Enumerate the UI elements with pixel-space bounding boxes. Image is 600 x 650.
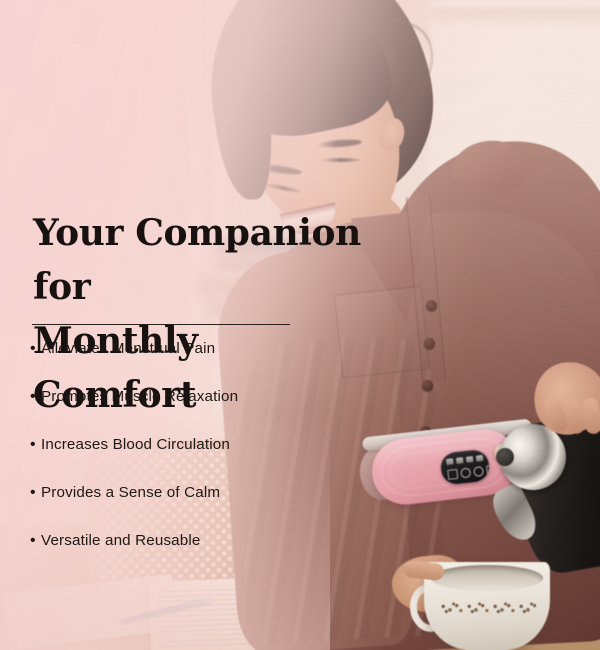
bullet-icon: • [30, 485, 41, 501]
benefit-label: Versatile and Reusable [41, 532, 370, 549]
bullet-icon: • [30, 533, 41, 549]
benefit-label: Promotes Muscle Relaxation [41, 388, 370, 405]
divider-rule [32, 324, 290, 325]
benefits-list: • Alleviates Menstrual Pain • Promotes M… [30, 340, 370, 580]
benefit-item: • Promotes Muscle Relaxation [30, 388, 370, 436]
benefit-item: • Increases Blood Circulation [30, 436, 370, 484]
benefit-item: • Versatile and Reusable [30, 532, 370, 580]
product-benefits-banner: Your Companion for Monthly Comfort • All… [0, 0, 600, 650]
bullet-icon: • [30, 437, 41, 453]
benefit-label: Increases Blood Circulation [41, 436, 370, 453]
benefit-item: • Provides a Sense of Calm [30, 484, 370, 532]
banner-content: Your Companion for Monthly Comfort • All… [0, 0, 600, 650]
bullet-icon: • [30, 341, 41, 357]
benefit-label: Alleviates Menstrual Pain [41, 340, 370, 357]
benefit-item: • Alleviates Menstrual Pain [30, 340, 370, 388]
bullet-icon: • [30, 389, 41, 405]
benefit-label: Provides a Sense of Calm [41, 484, 370, 501]
